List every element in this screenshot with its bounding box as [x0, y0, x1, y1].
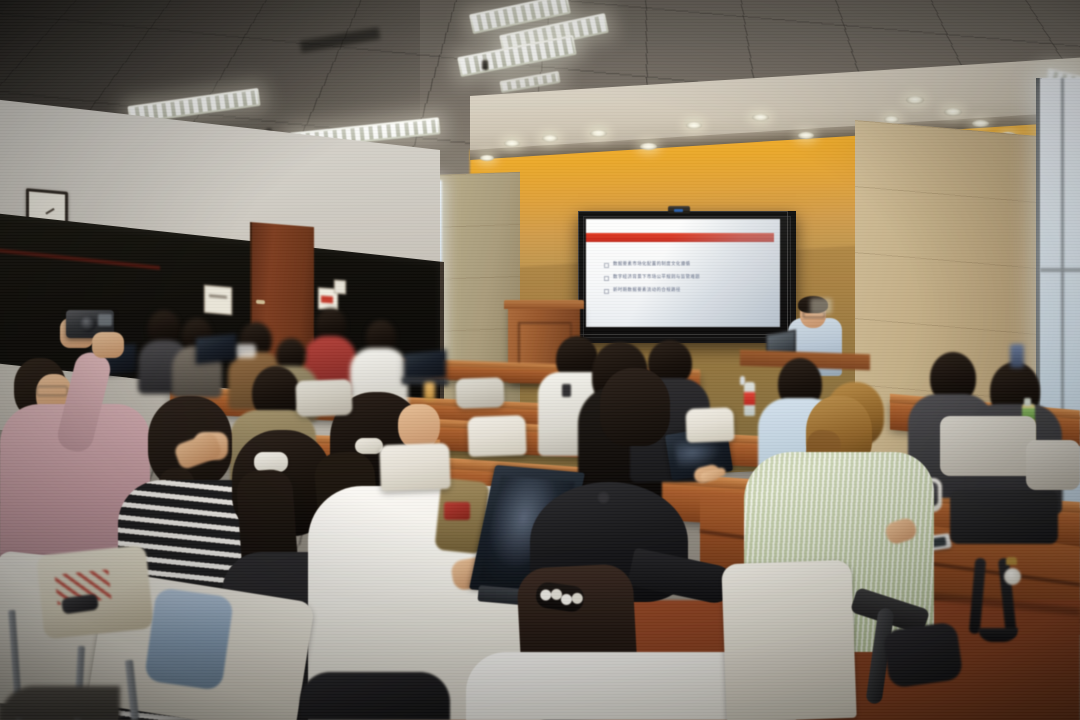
slide-content: 数据要素市场化配置的制度文化遵循 数字经济背景下市场公平规则与监管难题 新时期数… [586, 219, 780, 327]
lectern-top [504, 300, 584, 309]
face-mask-icon [234, 344, 256, 358]
door-notice-accent [321, 296, 333, 304]
camera-lens-icon [80, 316, 96, 332]
sleeve-patch [444, 502, 470, 520]
denim-jacket [144, 587, 234, 691]
handbag[interactable] [950, 490, 1058, 544]
person-hair [600, 368, 670, 446]
bag-charm-clasp [1006, 557, 1017, 565]
drink-cup[interactable] [424, 382, 435, 400]
chair[interactable] [379, 443, 451, 491]
chair[interactable] [685, 407, 734, 443]
downlight [590, 130, 607, 137]
bag-charm [1004, 568, 1021, 585]
downlight [480, 155, 494, 161]
bottle-cap [1024, 398, 1031, 406]
glasses-icon [36, 386, 68, 396]
wall-notice [204, 285, 232, 315]
door-handle[interactable] [256, 300, 265, 305]
drink-cup[interactable] [1010, 344, 1024, 368]
camera-screen [98, 314, 112, 326]
ceiling-sprinkler [482, 60, 488, 70]
chair[interactable] [295, 379, 352, 417]
downlight [504, 140, 520, 147]
downlight [906, 96, 924, 104]
downlight [686, 122, 702, 129]
water-bottle[interactable] [744, 382, 755, 416]
lecture-hall-photo: 数据要素市场化配置的制度文化遵循 数字经济背景下市场公平规则与监管难题 新时期数… [0, 0, 1080, 720]
wall-panel-box [810, 298, 832, 314]
chair-seat-shadow [882, 621, 963, 689]
chair[interactable] [467, 415, 526, 457]
downlight [640, 143, 657, 150]
downlight [944, 108, 962, 116]
downlight [972, 120, 989, 127]
office-chair-back[interactable] [721, 560, 856, 720]
person-torso [300, 672, 450, 720]
downlight [542, 135, 558, 142]
wall-outlet [334, 280, 346, 295]
shirt-letter-r [562, 384, 571, 397]
bottle-cap [740, 376, 745, 385]
laptop-screen[interactable] [196, 334, 236, 364]
window-rail [1040, 268, 1080, 272]
downlight [798, 132, 814, 139]
downlight [752, 114, 769, 121]
chair[interactable] [940, 416, 1036, 476]
slide-glare [586, 219, 780, 327]
hand [92, 332, 124, 358]
cap-button [598, 492, 609, 503]
floor-foreground [0, 686, 120, 720]
chair[interactable] [1026, 440, 1080, 490]
camera-led-icon [674, 209, 683, 212]
chair[interactable] [455, 377, 504, 409]
